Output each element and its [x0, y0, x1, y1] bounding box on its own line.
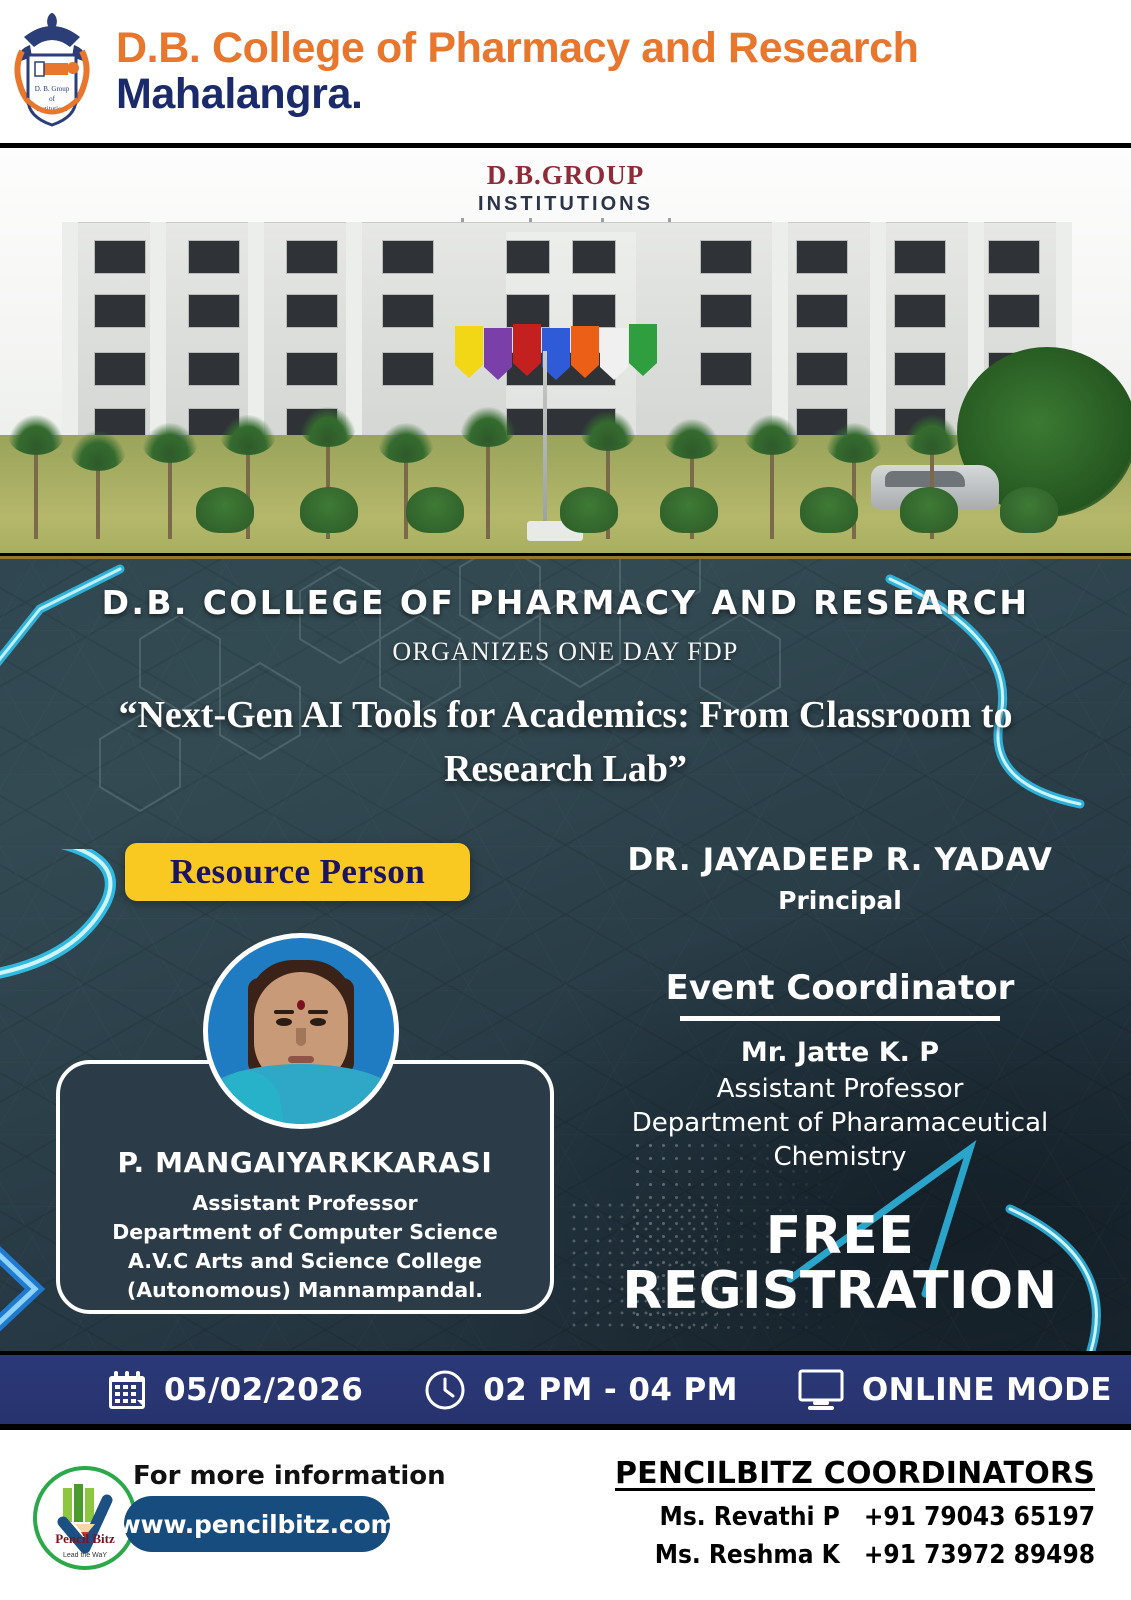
speaker-college: A.V.C Arts and Science College — [60, 1247, 550, 1276]
poster-footer: Pencil Bitz Lead the WaY For more inform… — [0, 1436, 1131, 1600]
section-college-name: D.B. COLLEGE OF PHARMACY AND RESEARCH — [0, 583, 1131, 622]
free-registration-banner: FREE REGISTRATION — [580, 1209, 1100, 1319]
coordinator-row: Ms. Revathi P +91 79043 65197 — [660, 1502, 1095, 1532]
section-organizes: ORGANIZES ONE DAY FDP — [0, 637, 1131, 667]
speaker-college-line2: (Autonomous) Mannampandal. — [60, 1276, 550, 1305]
svg-text:of: of — [49, 95, 56, 103]
college-crest-emblem: D. B. Group of Institutions — [4, 7, 100, 137]
coordinator-name: Ms. Reshma K — [655, 1540, 840, 1570]
college-building-photo: D.B.GROUP INSTITUTIONS — [0, 143, 1131, 556]
event-mode: ONLINE MODE — [797, 1368, 1112, 1412]
principal-name: DR. JAYADEEP R. YADAV — [580, 842, 1100, 878]
section-topic-title: “Next-Gen AI Tools for Academics: From C… — [48, 689, 1083, 797]
event-coordinator-role: Assistant Professor — [565, 1073, 1115, 1107]
monitor-icon — [797, 1368, 845, 1412]
speaker-photo — [203, 933, 399, 1129]
poster-header: D. B. Group of Institutions D.B. College… — [0, 0, 1131, 143]
free-registration-line1: FREE — [580, 1209, 1100, 1264]
pencilbitz-coordinators-title: PENCILBITZ COORDINATORS — [615, 1456, 1095, 1491]
pencil-bitz-logo-tagline: Lead the WaY — [37, 1552, 133, 1559]
resource-person-badge: Resource Person — [125, 843, 470, 901]
coordinator-phone[interactable]: +91 79043 65197 — [864, 1502, 1095, 1532]
event-coordinator-name: Mr. Jatte K. P — [580, 1037, 1100, 1068]
event-date: 05/02/2026 — [107, 1369, 363, 1411]
svg-text:D. B. Group: D. B. Group — [35, 85, 70, 93]
coordinator-phone[interactable]: +91 73972 89498 — [864, 1540, 1095, 1570]
more-information-label: For more information — [133, 1461, 446, 1491]
principal-role: Principal — [580, 886, 1100, 915]
event-mode-text: ONLINE MODE — [862, 1372, 1112, 1408]
event-details-section: D.B. COLLEGE OF PHARMACY AND RESEARCH OR… — [0, 556, 1131, 1351]
speaker-department: Department of Computer Science — [60, 1218, 550, 1247]
header-title-line1: D.B. College of Pharmacy and Research — [116, 26, 918, 72]
calendar-icon — [107, 1369, 147, 1411]
rooftop-sign-line1: D.B.GROUP — [478, 160, 653, 191]
flagpole — [543, 351, 547, 531]
rooftop-sign-line2: INSTITUTIONS — [478, 193, 653, 216]
free-registration-line2: REGISTRATION — [580, 1264, 1100, 1319]
speaker-name: P. MANGAIYARKKARASI — [60, 1146, 550, 1179]
event-date-text: 05/02/2026 — [164, 1372, 363, 1408]
event-info-bar: 05/02/2026 02 PM - 04 PM ONLINE MODE — [0, 1351, 1131, 1430]
website-url: www.pencilbitz.com — [118, 1510, 397, 1539]
event-coordinator-underline — [680, 1016, 1000, 1021]
coordinator-row: Ms. Reshma K +91 73972 89498 — [655, 1540, 1095, 1570]
clock-icon — [424, 1369, 466, 1411]
coordinator-name: Ms. Revathi P — [660, 1502, 840, 1532]
event-time-text: 02 PM - 04 PM — [483, 1372, 738, 1408]
event-time: 02 PM - 04 PM — [424, 1369, 738, 1411]
event-coordinator-heading: Event Coordinator — [580, 968, 1100, 1008]
rooftop-sign: D.B.GROUP INSTITUTIONS — [478, 160, 653, 216]
speaker-role: Assistant Professor — [60, 1189, 550, 1218]
resource-person-badge-label: Resource Person — [170, 852, 425, 892]
website-button[interactable]: www.pencilbitz.com — [124, 1496, 390, 1552]
header-title-line2: Mahalangra. — [116, 72, 918, 118]
event-coordinator-department-line2: Chemistry — [565, 1141, 1115, 1175]
event-coordinator-department: Department of Pharamaceutical — [565, 1107, 1115, 1141]
